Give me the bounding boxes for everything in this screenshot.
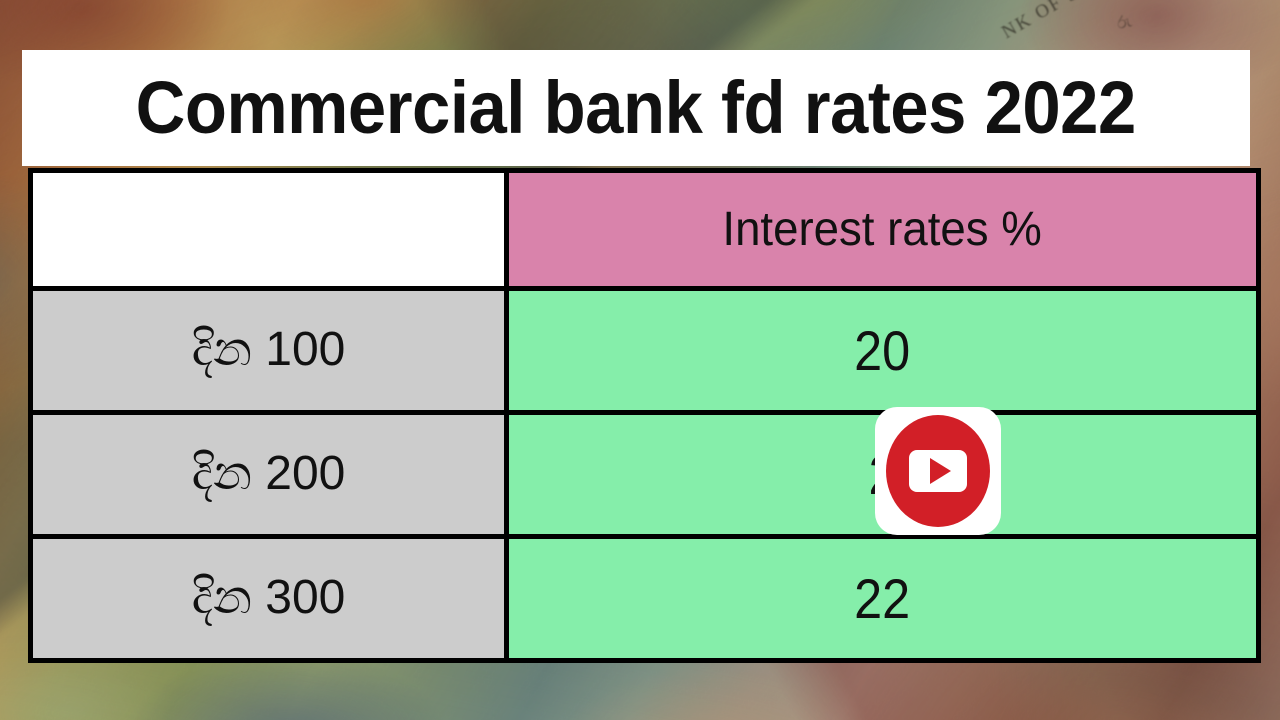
rate-value-300: 22 (854, 571, 910, 627)
table-header-row: Interest rates % (31, 171, 1259, 289)
youtube-circle-shape (886, 415, 990, 527)
term-label-200: දින 200 (192, 449, 346, 499)
header-label-interest-rate: Interest rates % (723, 206, 1042, 254)
youtube-screen-shape (909, 450, 967, 492)
header-cell-term (31, 171, 507, 289)
title-band: Commercial bank fd rates 2022 (22, 50, 1250, 166)
table-row: දින 100 20 (31, 289, 1259, 413)
table-row: දින 200 2 (31, 413, 1259, 537)
cell-term-100: දින 100 (31, 289, 507, 413)
table-row: දින 300 22 (31, 537, 1259, 661)
cell-rate-300: 22 (507, 537, 1259, 661)
slide-content: Commercial bank fd rates 2022 Interest r… (0, 0, 1280, 720)
header-cell-interest-rate: Interest rates % (507, 171, 1259, 289)
play-triangle-icon (930, 458, 951, 484)
cell-term-200: දින 200 (31, 413, 507, 537)
fd-rates-table: Interest rates % දින 100 20 දින 200 2 (28, 168, 1261, 663)
page-title: Commercial bank fd rates 2022 (136, 71, 1136, 145)
rate-value-100: 20 (854, 323, 910, 379)
cell-term-300: දින 300 (31, 537, 507, 661)
term-label-300: දින 300 (192, 573, 346, 623)
cell-rate-100: 20 (507, 289, 1259, 413)
term-label-100: දින 100 (192, 325, 346, 375)
youtube-icon[interactable] (875, 407, 1001, 535)
